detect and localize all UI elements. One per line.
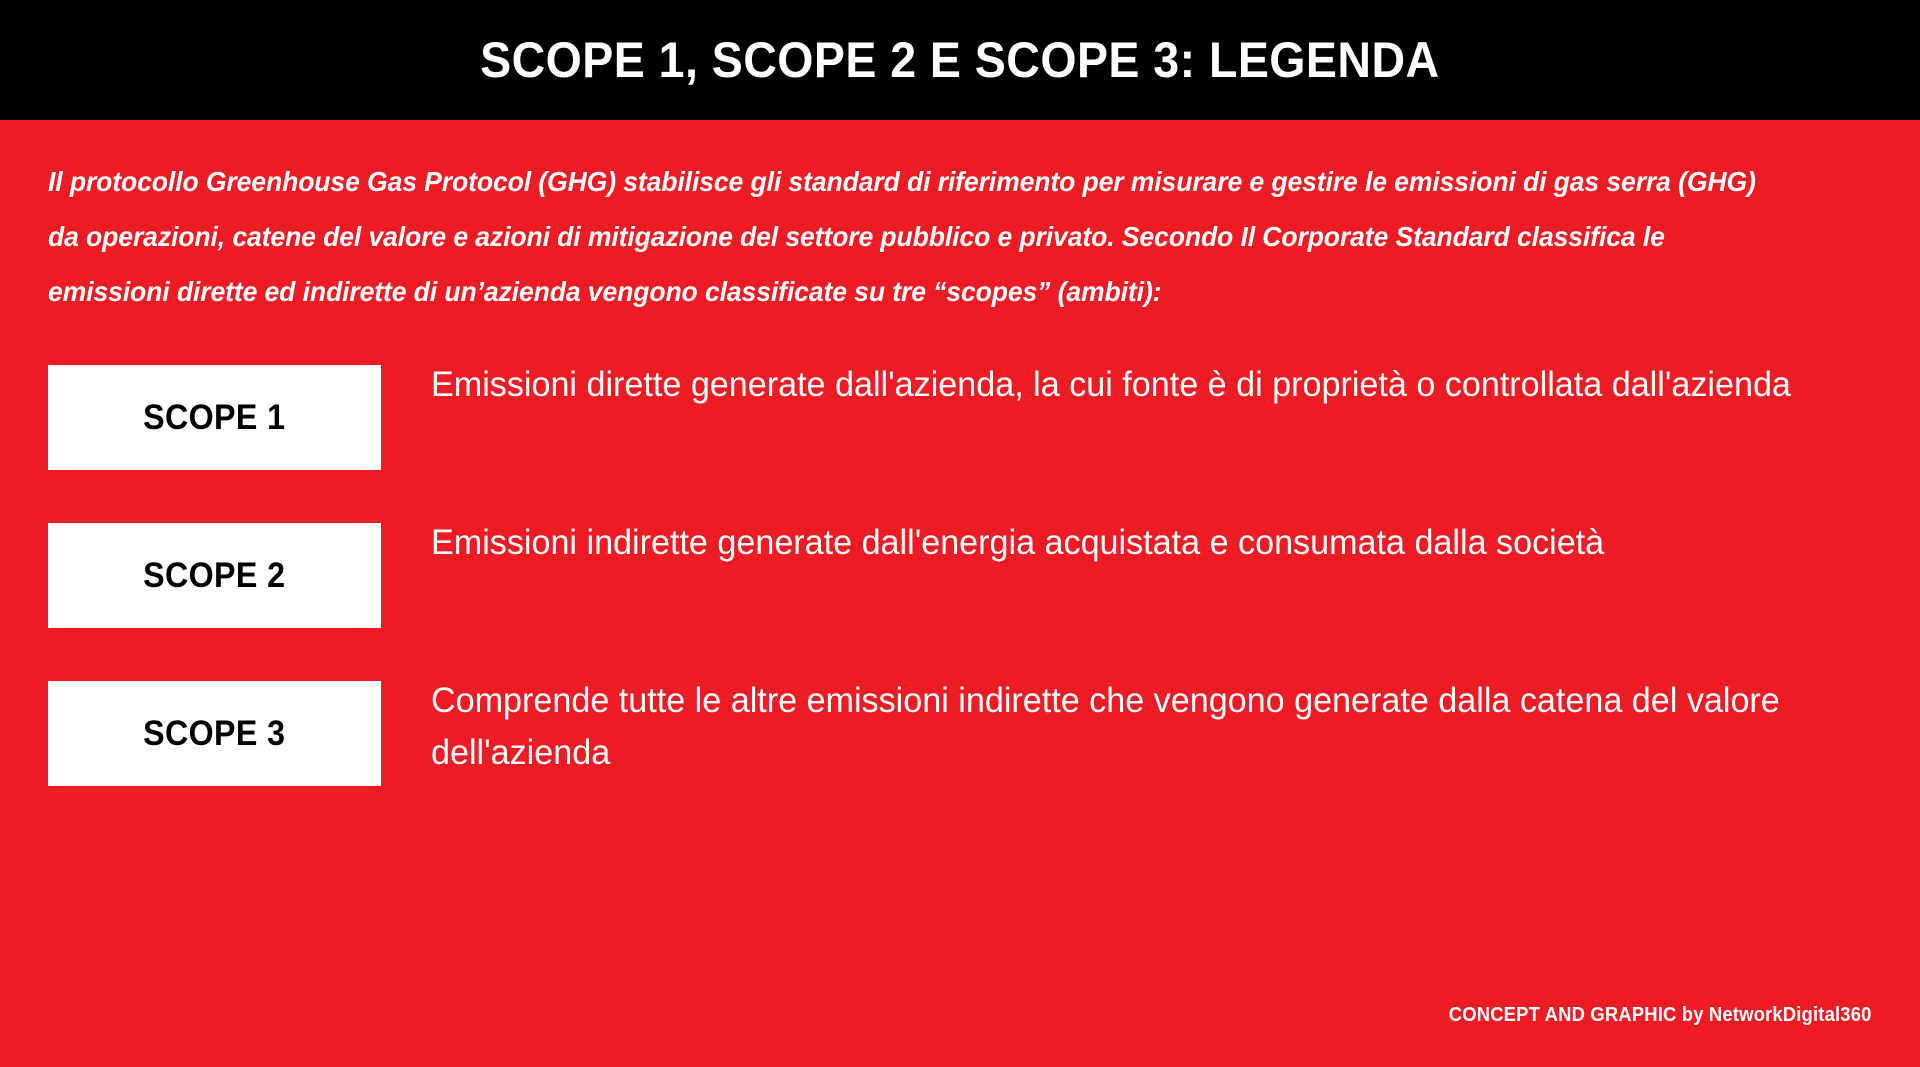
scope-badge-label-1: SCOPE 1 bbox=[143, 398, 285, 438]
scope-description-3: Comprende tutte le altre emissioni indir… bbox=[431, 675, 1825, 779]
scope-badge-3: SCOPE 3 bbox=[48, 681, 381, 786]
infographic-canvas: SCOPE 1, SCOPE 2 E SCOPE 3: LEGENDA Il p… bbox=[0, 0, 1920, 1067]
scope-badge-label-2: SCOPE 2 bbox=[143, 556, 285, 596]
scope-row-1: SCOPE 1 Emissioni dirette generate dall'… bbox=[48, 365, 1872, 470]
scope-badge-1: SCOPE 1 bbox=[48, 365, 381, 470]
scope-row-3: SCOPE 3 Comprende tutte le altre emissio… bbox=[48, 681, 1872, 786]
scope-description-1: Emissioni dirette generate dall'azienda,… bbox=[431, 359, 1791, 411]
page-title: SCOPE 1, SCOPE 2 E SCOPE 3: LEGENDA bbox=[480, 31, 1439, 89]
header-bar: SCOPE 1, SCOPE 2 E SCOPE 3: LEGENDA bbox=[0, 0, 1920, 120]
scope-badge-label-3: SCOPE 3 bbox=[143, 714, 285, 754]
scope-list: SCOPE 1 Emissioni dirette generate dall'… bbox=[48, 365, 1872, 786]
body-area: Il protocollo Greenhouse Gas Protocol (G… bbox=[0, 120, 1920, 1067]
intro-paragraph: Il protocollo Greenhouse Gas Protocol (G… bbox=[48, 154, 1775, 319]
scope-badge-2: SCOPE 2 bbox=[48, 523, 381, 628]
scope-row-2: SCOPE 2 Emissioni indirette generate dal… bbox=[48, 523, 1872, 628]
credit-line: CONCEPT AND GRAPHIC by NetworkDigital360 bbox=[1449, 1004, 1872, 1027]
scope-description-2: Emissioni indirette generate dall'energi… bbox=[431, 517, 1604, 569]
